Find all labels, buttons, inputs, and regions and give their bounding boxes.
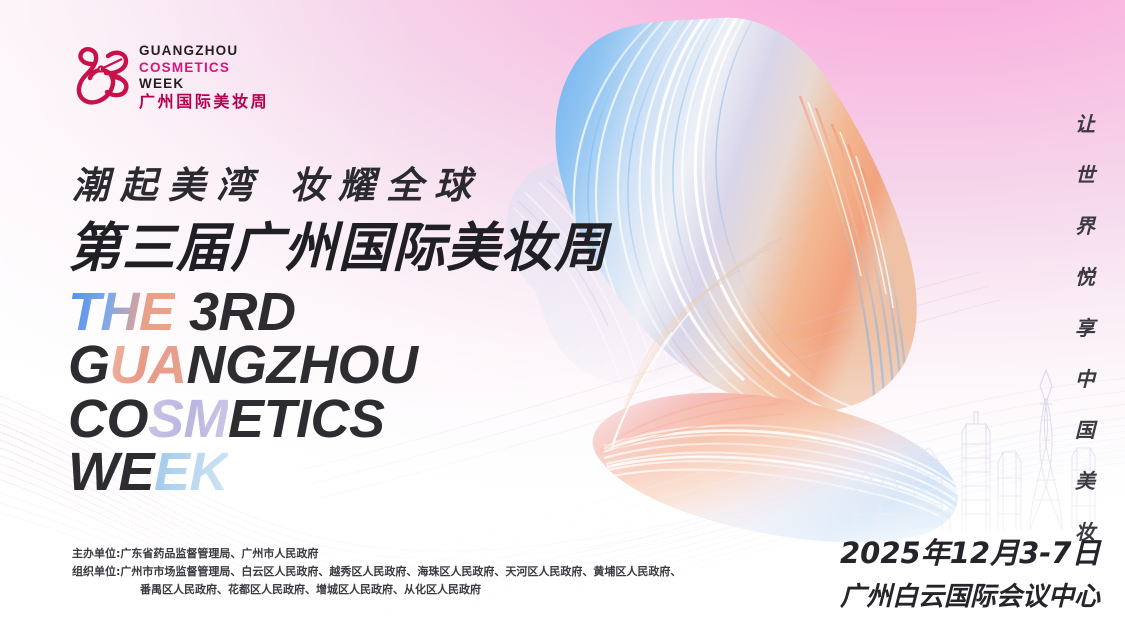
event-date: 2025年12月3-7日 [840,530,1100,572]
title-en-co: CO [68,389,148,449]
ampersand-butterfly-mark [68,44,130,110]
title-en-the: THE [68,282,175,342]
slogan: 潮起美湾妆耀全球 [72,155,482,209]
vertical-char: 让 [1075,108,1095,137]
slogan-right: 妆耀全球 [290,164,482,207]
organizer-credits: 主办单位:广东省药品监督管理局、广州市人民政府 组织单位:广州市市场监督管理局、… [72,545,681,599]
vertical-char: 世 [1075,159,1095,188]
logo-line-guangzhou: GUANGZHOU [139,44,269,58]
slogan-left: 潮起美湾 [72,164,264,207]
title-en-we: WE [68,442,154,502]
title-en-3rd: 3RD [175,282,296,342]
title-en-ngzhou: NGZHOU [187,335,418,395]
vertical-char: 国 [1075,414,1095,443]
event-logo: GUANGZHOU COSMETICS WEEK 广州国际美妆周 [68,44,269,110]
title-english: THE 3RD GUANGZHOU COSMETICS WEEK [68,286,418,500]
vertical-slogan: 让 世 界 悦 享 中 国 美 妆 [1075,108,1095,545]
vertical-char: 美 [1075,465,1095,494]
title-en-sm: SM [148,389,228,449]
event-venue: 广州白云国际会议中心 [840,576,1100,613]
poster-canvas: GUANGZHOU COSMETICS WEEK 广州国际美妆周 潮起美湾妆耀全… [0,0,1125,633]
title-chinese: 第三届广州国际美妆周 [68,206,608,282]
title-en-ua: UA [110,335,187,395]
credits-host: 主办单位:广东省药品监督管理局、广州市人民政府 [72,545,681,563]
logo-line-week: WEEK [139,77,269,91]
title-en-row-4: WEEK [68,446,418,499]
title-en-row-1: THE 3RD [68,286,418,339]
vertical-char: 界 [1075,210,1095,239]
title-en-g: G [68,335,110,395]
title-en-ek: EK [154,442,228,502]
vertical-char: 中 [1075,363,1095,392]
logo-text-block: GUANGZHOU COSMETICS WEEK 广州国际美妆周 [139,44,269,110]
title-en-row-3: COSMETICS [68,393,418,446]
logo-line-chinese: 广州国际美妆周 [139,94,269,110]
title-en-row-2: GUANGZHOU [68,339,418,392]
event-date-venue: 2025年12月3-7日 广州白云国际会议中心 [840,530,1100,613]
vertical-char: 悦 [1075,261,1095,290]
credits-organizers-2: 番禺区人民政府、花都区人民政府、增城区人民政府、从化区人民政府 [72,581,681,599]
title-en-etics: ETICS [228,389,385,449]
logo-line-cosmetics: COSMETICS [139,61,269,75]
vertical-char: 享 [1075,312,1095,341]
credits-organizers-1: 组织单位:广州市市场监督管理局、白云区人民政府、越秀区人民政府、海珠区人民政府、… [72,563,681,581]
